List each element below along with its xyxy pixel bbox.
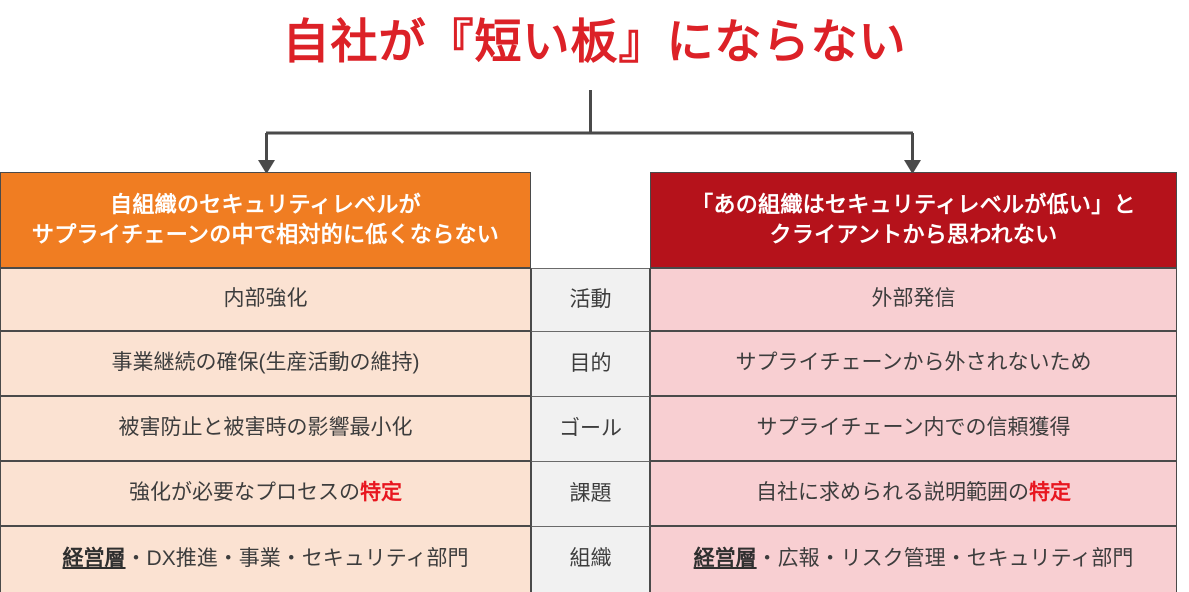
header-cell-left: 自組織のセキュリティレベルが サプライチェーンの中で相対的に低くならない <box>0 172 531 268</box>
table-row: 経営層・広報・リスク管理・セキュリティ部門 <box>650 527 1177 592</box>
row-label: 活動 <box>531 268 650 332</box>
cell-right-value: サプライチェーンから外されないため <box>736 349 1092 378</box>
table-row: サプライチェーン内での信頼獲得 <box>650 397 1177 462</box>
page-title: 自社が『短い板』にならない <box>0 14 1189 70</box>
header-right-line1: 「あの組織はセキュリティレベルが低い」と <box>691 190 1136 220</box>
header-left-line1: 自組織のセキュリティレベルが <box>32 190 499 220</box>
row-label: 組織 <box>531 527 650 592</box>
row-label-text: 目的 <box>570 350 612 379</box>
table-row: 外部発信 <box>650 268 1177 332</box>
cell-left-value: 事業継続の確保(生産活動の維持) <box>112 349 420 378</box>
cell-left-emphasis: 経営層 <box>63 547 126 570</box>
table-row: 事業継続の確保(生産活動の維持) <box>0 332 531 397</box>
table-row: サプライチェーンから外されないため <box>650 332 1177 397</box>
header-cell-right: 「あの組織はセキュリティレベルが低い」と クライアントから思われない <box>650 172 1177 268</box>
cell-left-value: 内部強化 <box>224 285 308 314</box>
cell-right-value: 自社に求められる説明範囲の <box>756 481 1029 504</box>
header-cell-middle-spacer <box>531 172 650 268</box>
header-right-line2: クライアントから思われない <box>691 220 1136 250</box>
cell-right-value: 外部発信 <box>872 285 956 314</box>
table-row: 経営層・DX推進・事業・セキュリティ部門 <box>0 527 531 592</box>
table-row: 自社に求められる説明範囲の特定 <box>650 462 1177 527</box>
cell-left-highlight: 特定 <box>360 481 402 504</box>
cell-right-value: ・広報・リスク管理・セキュリティ部門 <box>757 547 1134 570</box>
row-label: 課題 <box>531 462 650 527</box>
row-label-text: 活動 <box>570 286 612 315</box>
cell-left-value: 強化が必要なプロセスの <box>129 481 360 504</box>
cell-right-highlight: 特定 <box>1029 481 1071 504</box>
table-row: 強化が必要なプロセスの特定 <box>0 462 531 527</box>
row-label: 目的 <box>531 332 650 397</box>
row-label: ゴール <box>531 397 650 462</box>
row-label-text: 課題 <box>570 480 612 509</box>
fork-connector <box>0 90 1189 180</box>
row-label-text: 組織 <box>570 545 612 574</box>
row-label-text: ゴール <box>559 415 622 444</box>
table-row: 内部強化 <box>0 268 531 332</box>
table-row: 被害防止と被害時の影響最小化 <box>0 397 531 462</box>
cell-left-value: ・DX推進・事業・セキュリティ部門 <box>126 547 469 570</box>
cell-right-emphasis: 経営層 <box>694 547 757 570</box>
comparison-matrix: 自組織のセキュリティレベルが サプライチェーンの中で相対的に低くならない 「あの… <box>0 172 1177 592</box>
header-left-line2: サプライチェーンの中で相対的に低くならない <box>32 220 499 250</box>
cell-right-value: サプライチェーン内での信頼獲得 <box>757 414 1071 443</box>
cell-left-value: 被害防止と被害時の影響最小化 <box>119 414 413 443</box>
